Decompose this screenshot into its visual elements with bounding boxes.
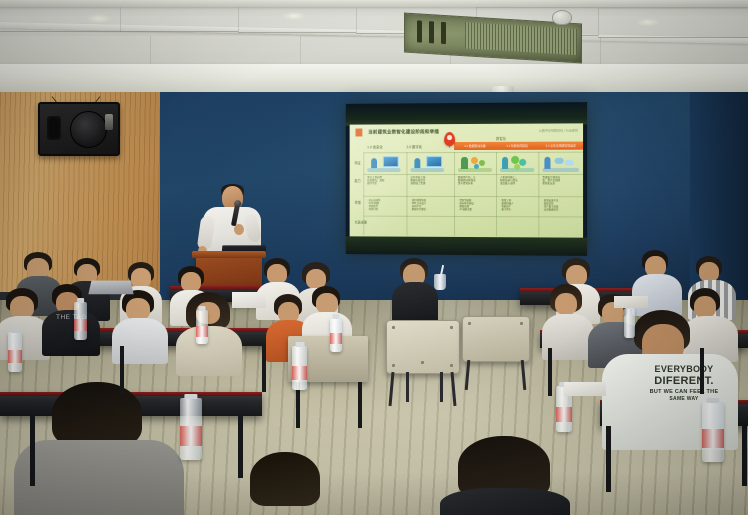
water-bottle: [330, 318, 342, 352]
notebook: [232, 292, 266, 308]
slide-content: 当前建筑业数智化建设阶段和举措 从数字化到数智化 | 行业研究 1.0 信息化 …: [350, 123, 583, 238]
tshirt-print: EVERYBODY DIFERENT. BUT WE CAN FEEL THE …: [630, 364, 738, 402]
water-bottle: [180, 398, 202, 460]
water-bottle: [74, 302, 87, 340]
water-bottle: [702, 402, 724, 462]
water-bottle: [8, 332, 22, 372]
slide-cell-bullets: · 经营驾驶舱 · 指标体系建设 · 数据治理 · AI 辅助决策: [458, 199, 494, 233]
slide-corner-note: 从数字化到数智化 | 行业研究: [539, 128, 578, 132]
slide-orange-header: 3.3 全生命周期智慧运营: [538, 142, 583, 150]
slide-illustration: [542, 154, 579, 172]
tshirt-line-1: EVERYBODY: [630, 364, 738, 375]
slide-title: 当前建筑业数智化建设阶段和举措: [368, 129, 439, 135]
water-bottle: [292, 346, 307, 390]
map-pin-icon: [444, 132, 455, 146]
slide-cell-bullets: · 智慧工地 · 建筑机器人 · 智能排产 · 数字孪生: [500, 199, 536, 233]
attendee-laptop: [88, 281, 133, 295]
ceiling-light: [282, 12, 306, 20]
slide-title-mark: [356, 129, 360, 137]
slide-orange-header-label: 3.2 智能协同建造: [506, 144, 528, 148]
chair-back-center: [386, 320, 460, 374]
slide-cell-body: 人机协同施工， 智能装备与算法 深度融入现场: [500, 176, 536, 194]
slide-title-bar: 当前建筑业数智化建设阶段和举措: [356, 128, 440, 136]
slide-cell-bullets: · 项目管理系统 · BIM 正向设计 · 协同平台 · 数据中台雏形: [410, 199, 452, 233]
ceiling-light: [636, 18, 660, 26]
chair-back-center-right: [462, 316, 530, 362]
slide-cell-body: 数据资产化，以 数据驱动管理决 策与经营分析: [458, 176, 494, 194]
slide-illustration: [410, 154, 444, 172]
photo-scene: 当前建筑业数智化建设阶段和举措 从数字化到数智化 | 行业研究 1.0 信息化 …: [0, 0, 748, 515]
tshirt-line-3: BUT WE CAN FEEL THE: [630, 389, 738, 396]
tshirt-line-2: DIFERENT.: [630, 375, 738, 389]
slide-cell-bullets: · 办公自动化 · CAD 制图 · 单机软件 · 纸质归档: [367, 199, 404, 233]
slide-phase-label: 2.0 数字化: [407, 144, 423, 149]
wall-speaker: [38, 102, 120, 156]
slide-illustration: [500, 154, 534, 172]
slide-phase-label: 1.0 信息化: [367, 144, 383, 149]
paper-cup: [434, 274, 446, 290]
projection-screen: 当前建筑业数智化建设阶段和举措 从数字化到数智化 | 行业研究 1.0 信息化 …: [346, 102, 587, 256]
screen-top-band: [346, 102, 587, 126]
notebook: [564, 382, 606, 396]
slide-orange-header-label: 3.3 全生命周期智慧运营: [546, 144, 576, 148]
slide-row-label: 特征: [355, 160, 361, 165]
slide-illustration: [367, 154, 400, 172]
slide-row-label: 能力: [355, 178, 361, 183]
slide-orange-header: 3.1 数据驱动决策: [454, 142, 497, 150]
water-bottle: [196, 310, 208, 344]
slide-orange-header-label: 3.1 数据驱动决策: [464, 144, 485, 148]
smoke-detector-icon: [552, 10, 572, 25]
slide-row-label: 代表成果: [355, 220, 367, 225]
slide-cell-body: 贯通设计建造运 维，资产全周期 智慧化运营: [542, 176, 581, 194]
notebook: [614, 296, 648, 308]
screen-bottom-band: [346, 236, 587, 256]
slide-cell-body: 单点工具应用 信息孤岛，流程 线下为主: [367, 176, 404, 194]
water-bottle: [624, 308, 635, 338]
slide-illustration: [458, 154, 492, 172]
ceiling-light: [86, 14, 112, 23]
slide-orange-header: 3.2 智能协同建造: [496, 142, 539, 150]
slide-group-label: 数智化: [496, 136, 506, 141]
slide-row-label: 举措: [355, 200, 361, 205]
slide-cell-bullets: · 智慧运维平台 · 能耗优化 · 资产数字底座 · 运营数据闭环: [542, 199, 581, 233]
slide-cell-body: 业务系统上线 数据在线沉淀 流程线上贯通: [410, 176, 452, 194]
